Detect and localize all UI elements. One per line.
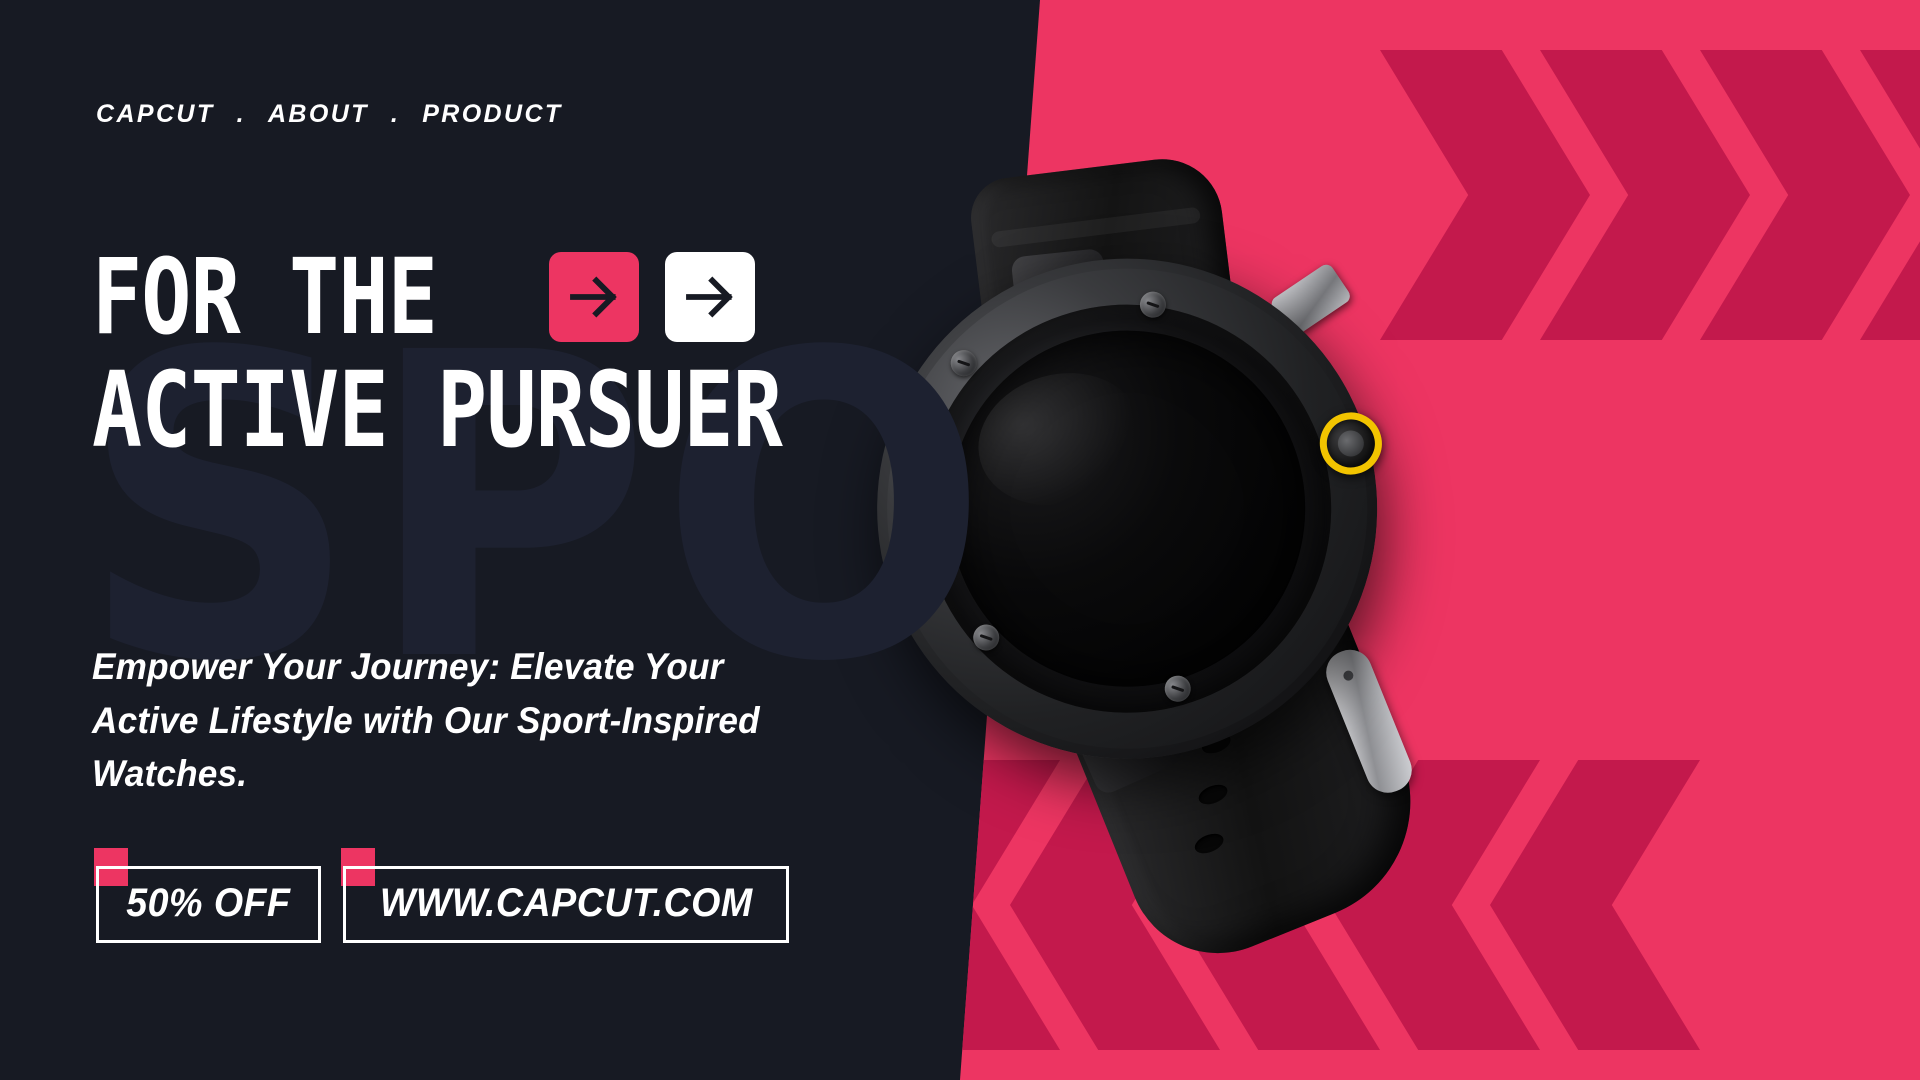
headline-row-second: ACTIVE PURSUER [92, 361, 922, 460]
headline-line-1: FOR THE [92, 248, 437, 347]
nav-item-about[interactable]: ABOUT [268, 100, 369, 129]
watch-buckle [1320, 643, 1419, 799]
arrow-right-icon [682, 269, 738, 325]
website-badge-box: WWW.CAPCUT.COM [343, 866, 790, 943]
top-navigation: CAPCUT . ABOUT . PRODUCT [96, 100, 563, 129]
hero-subtitle: Empower Your Journey: Elevate Your Activ… [92, 640, 814, 801]
nav-item-product[interactable]: PRODUCT [422, 100, 562, 129]
cta-row: 50% OFF WWW.CAPCUT.COM [96, 866, 789, 943]
arrow-button-primary[interactable] [549, 252, 639, 342]
promo-banner: SPO CAPCUT . ABOUT . PRODUCT FOR THE ACT… [0, 0, 1920, 1080]
nav-separator-dot: . [391, 100, 400, 129]
strap-hole [1192, 830, 1226, 857]
website-label: WWW.CAPCUT.COM [380, 881, 753, 926]
headline-line-2: ACTIVE PURSUER [92, 361, 782, 460]
website-badge[interactable]: WWW.CAPCUT.COM [343, 866, 790, 943]
discount-badge-box: 50% OFF [96, 866, 321, 943]
nav-separator-dot: . [237, 100, 246, 129]
hero-headline: FOR THE ACTIVE PURSUER [92, 248, 922, 460]
arrow-button-secondary[interactable] [665, 252, 755, 342]
arrow-right-icon [566, 269, 622, 325]
headline-row-first: FOR THE [92, 248, 922, 347]
discount-badge[interactable]: 50% OFF [96, 866, 321, 943]
discount-label: 50% OFF [126, 881, 290, 926]
strap-hole [1196, 781, 1230, 808]
nav-item-capcut[interactable]: CAPCUT [96, 100, 215, 129]
